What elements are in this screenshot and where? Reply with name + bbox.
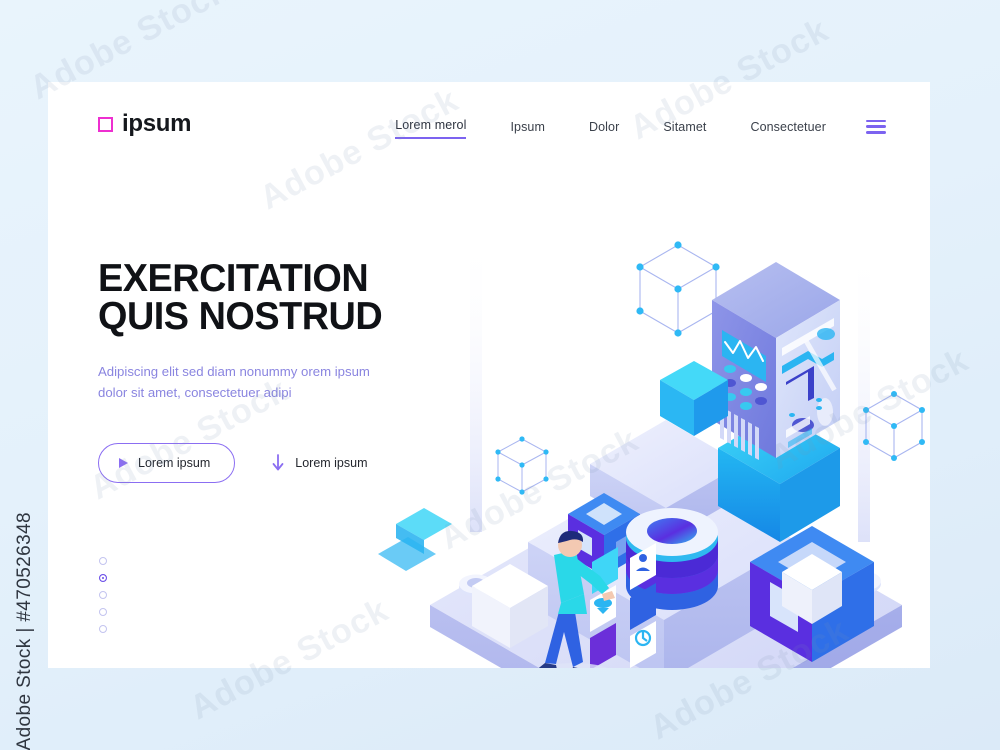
subhead-line-2: dolor sit amet, consectetuer adipi: [98, 385, 292, 400]
isometric-illustration: [378, 162, 930, 668]
nav-item-ipsum[interactable]: Ipsum: [510, 116, 545, 138]
stock-id-watermark: Adobe Stock | #470526348: [14, 512, 36, 750]
secondary-cta-label: Lorem ipsum: [295, 456, 367, 470]
play-triangle-icon: [119, 458, 128, 468]
primary-cta-label: Lorem ipsum: [138, 456, 210, 470]
wireframe-network-cube-left: [495, 436, 548, 494]
brand-name: ipsum: [122, 110, 191, 138]
wireframe-network-cube-right: [863, 391, 925, 461]
landing-page-card: ipsum Lorem merol Ipsum Dolor Sitamet Co…: [48, 82, 930, 668]
pagination-dot-1[interactable]: [99, 557, 107, 565]
subhead-line-1: Adipiscing elit sed diam nonummy orem ip…: [98, 364, 370, 379]
arrow-down-icon: [271, 454, 285, 472]
hero-subhead: Adipiscing elit sed diam nonummy orem ip…: [98, 362, 398, 403]
pagination-dot-4[interactable]: [99, 608, 107, 616]
pagination-dot-5[interactable]: [99, 625, 107, 633]
secondary-cta-button[interactable]: Lorem ipsum: [271, 454, 367, 472]
nav-item-consectetuer[interactable]: Consectetuer: [750, 116, 826, 138]
main-navigation: Lorem merol Ipsum Dolor Sitamet Consecte…: [395, 114, 886, 139]
hamburger-menu-icon[interactable]: [866, 120, 886, 134]
headline-line-2: QUIS NOSTRUD: [98, 295, 382, 338]
slider-pagination: [99, 557, 107, 633]
wireframe-network-cube-top: [636, 241, 719, 336]
primary-cta-button[interactable]: Lorem ipsum: [98, 443, 235, 483]
headline-line-1: EXERCITATION: [98, 257, 368, 300]
server-tower: [712, 262, 840, 460]
pagination-dot-3[interactable]: [99, 591, 107, 599]
square-outline-icon: [98, 117, 113, 132]
nav-item-dolor[interactable]: Dolor: [589, 116, 619, 138]
pagination-dot-2[interactable]: [99, 574, 107, 582]
site-header: ipsum Lorem merol Ipsum Dolor Sitamet Co…: [48, 82, 930, 170]
base-accent-shapes: [378, 508, 452, 571]
nav-item-lorem-merol[interactable]: Lorem merol: [395, 114, 466, 139]
nav-item-sitamet[interactable]: Sitamet: [663, 116, 706, 138]
brand-logo[interactable]: ipsum: [98, 110, 191, 138]
